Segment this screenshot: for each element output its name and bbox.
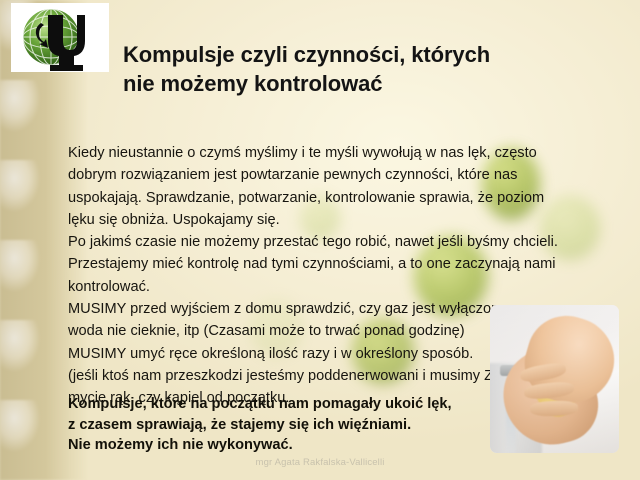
closing-line-2: z czasem sprawiają, że stajemy się ich w… (68, 415, 498, 436)
hands-washing-photo (490, 305, 619, 453)
title-line-1: Kompulsje czyli czynności, których (123, 42, 490, 67)
presentation-slide: Kompulsje czyli czynności, których nie m… (0, 0, 640, 480)
closing-statement: Kompulsje, które na początku nam pomagał… (68, 394, 498, 456)
body-paragraph: Kiedy nieustannie o czymś myślimy i te m… (68, 142, 568, 231)
psi-globe-icon (11, 3, 109, 72)
closing-line-1: Kompulsje, które na początku nam pomagał… (68, 394, 498, 415)
photo-shading (490, 305, 619, 453)
body-paragraph: Po jakimś czasie nie możemy przestać teg… (68, 231, 568, 298)
closing-line-3: Nie możemy ich nie wykonywać. (68, 435, 498, 456)
psi-globe-logo (11, 3, 109, 72)
footer-author: mgr Agata Rakfalska-Vallicelli (0, 457, 640, 468)
page-title: Kompulsje czyli czynności, których nie m… (123, 40, 593, 98)
title-line-2: nie możemy kontrolować (123, 69, 593, 98)
